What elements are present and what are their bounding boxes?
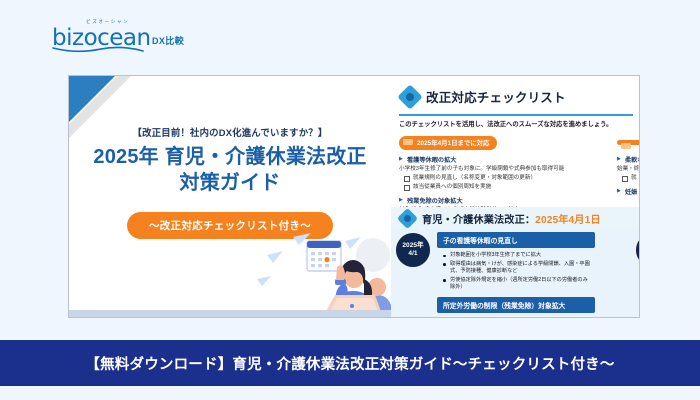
checklist-columns: 2025年4月1日までに対応 看護等休暇の拡大 小学校3年生修了前の子も対象に。… xyxy=(399,132,640,214)
hero-title-line1: 2025年 育児・介護休業法改正 xyxy=(69,144,391,170)
comparison-footer: 所定外労働の制限（残業免除）対象拡大 xyxy=(437,297,595,313)
checklist-item-heading: 柔軟な xyxy=(617,155,640,164)
checklist-checkbox-row[interactable]: 就 xyxy=(617,175,640,183)
hero-desk-base xyxy=(69,310,391,318)
download-banner[interactable]: 【無料ダウンロード】育児・介護休業法改正対策ガイド～チェックリスト付き～ xyxy=(0,340,700,386)
checklist-title: 改正対応チェックリスト xyxy=(426,87,566,106)
checklist-lead: このチェックリストを活用し、法改正へのスムーズな対応を進めましょう。 xyxy=(399,119,640,128)
download-banner-text: 【無料ダウンロード】育児・介護休業法改正対策ガイド～チェックリスト付き～ xyxy=(85,353,614,374)
checklist-item-heading: 妊娠・ xyxy=(617,187,640,196)
band-label: 育児・介護休業法改正：2025年4月1日 xyxy=(422,211,601,226)
hero-title-line2: 対策ガイド xyxy=(69,170,391,196)
checklist-item-detail: 小学校3年生修了前の子も対象に。学級閉鎖や式典参加も取得可能 xyxy=(399,166,609,174)
logo-section-label: DX比較 xyxy=(152,34,184,47)
band-label-text: 育児・介護休業法改正： xyxy=(422,215,535,226)
checklist-checkbox-row[interactable]: 就業規則の見直し（名称変更・対象範囲の更新） xyxy=(399,175,609,183)
comparison-bullet-list: 対象範囲を小学校3年生修了までに拡大 取得理由は病気・けが、感染症による学級閉鎖… xyxy=(437,248,595,295)
hero-section: 【改正目前！社内のDX化進んでいますか？】 2025年 育児・介護休業法改正 対… xyxy=(69,76,391,318)
guide-preview-card[interactable]: 【改正目前！社内のDX化進んでいますか？】 2025年 育児・介護休業法改正 対… xyxy=(68,75,640,318)
comparison-header: 子の看護等休暇の見直し xyxy=(437,232,595,248)
person-laptop-illustration xyxy=(249,229,399,318)
diamond-bullet-icon xyxy=(397,207,418,228)
deadline-pill: 2025年4月1日までに対応 xyxy=(399,136,497,150)
checklist-checkbox-row[interactable]: 該当従業員への個別周知を実施 xyxy=(399,184,609,192)
hero-kicker: 【改正目前！社内のDX化進んでいますか？】 xyxy=(69,125,391,139)
page-root: ビズオーシャン bizocean DX比較 【改正目前！社内のDX化進んでいます… xyxy=(0,0,700,400)
checklist-item-detail: 始業・終業を導入 xyxy=(617,166,640,174)
law-revision-band: 育児・介護休業法改正：2025年4月1日 xyxy=(391,207,640,229)
checklist-item-heading: 看護等休暇の拡大 xyxy=(399,155,609,164)
checklist-item: 看護等休暇の拡大 小学校3年生修了前の子も対象に。学級閉鎖や式典参加も取得可能 … xyxy=(399,155,609,191)
comparison-bullet: 対象範囲を小学校3年生修了までに拡大 xyxy=(441,252,591,260)
checklist-panel: 改正対応チェックリスト このチェックリストを活用し、法改正へのスムーズな対応を進… xyxy=(391,76,640,318)
checklist-header: 改正対応チェックリスト xyxy=(401,87,566,106)
childcare-badge-day: 4/1 xyxy=(408,250,417,257)
nursingcare-badge-date: 2025年4/1 xyxy=(636,233,640,267)
checklist-divider xyxy=(399,114,633,116)
band-date: 2025年4月1日 xyxy=(535,215,600,226)
comparison-section: 育児 2025年4/1 介護 2025年4/1 子の看護等休暇の見直し 対象範囲… xyxy=(391,229,640,318)
checklist-item: 柔軟な 始業・終業を導入 就 xyxy=(617,155,640,182)
checklist-column-right: 柔軟な 始業・終業を導入 就 妊娠・ xyxy=(617,132,640,214)
checklist-item: 妊娠・ xyxy=(617,187,640,196)
hero-title: 2025年 育児・介護休業法改正 対策ガイド xyxy=(69,144,391,196)
diamond-bullet-icon xyxy=(397,84,422,109)
childcare-badge-date: 2025年4/1 xyxy=(396,233,430,267)
checklist-sheet: 改正対応チェックリスト このチェックリストを活用し、法改正へのスムーズな対応を進… xyxy=(391,76,640,212)
childcare-badge-year: 2025年 xyxy=(402,242,423,249)
deadline-pill-secondary xyxy=(617,140,640,145)
logo-wave-icon xyxy=(52,46,144,53)
checklist-column-left: 2025年4月1日までに対応 看護等休暇の拡大 小学校3年生修了前の子も対象に。… xyxy=(399,132,609,214)
comparison-content: 子の看護等休暇の見直し 対象範囲を小学校3年生修了までに拡大 取得理由は病気・け… xyxy=(437,232,595,313)
checklist-item-heading: 残業免除の対象拡大 xyxy=(399,196,609,205)
comparison-bullet: 取得理由は病気・けが、感染症による学級閉鎖、入園・卒園式、予防接種、健康診断など xyxy=(441,261,591,276)
site-logo[interactable]: ビズオーシャン bizocean DX比較 xyxy=(52,18,232,52)
comparison-bullet: 労使協定除外規定を縮小（週所定労働2日以下の労働者のみ除外） xyxy=(441,277,591,292)
